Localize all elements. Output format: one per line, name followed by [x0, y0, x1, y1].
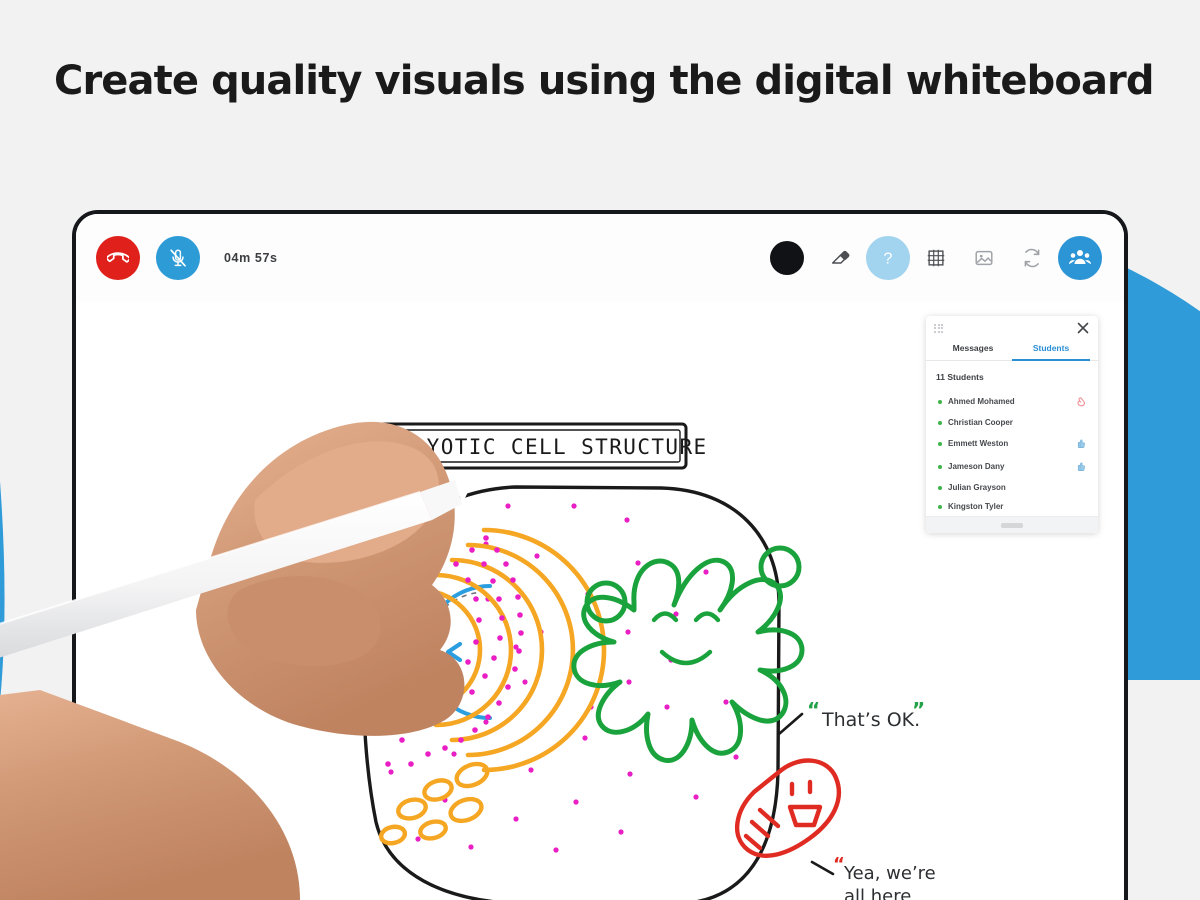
- annotation-here-to-help: “ Yea, we’re all here to help. ”: [812, 854, 936, 900]
- insert-image-button[interactable]: [962, 236, 1006, 280]
- svg-text:all here: all here: [844, 886, 911, 900]
- eraser-icon: [829, 247, 851, 269]
- image-icon: [973, 247, 995, 269]
- diagram-title-box: EUKARYOTIC CELL STRUCTURE: [356, 424, 707, 468]
- app-toolbar: 04m 57s ?: [76, 214, 1124, 302]
- thumbs-up-icon[interactable]: [1075, 460, 1088, 473]
- drawing-tools-group: ?: [770, 236, 1124, 280]
- student-name: Jameson Dany: [948, 462, 1004, 471]
- students-panel: Messages Students 11 Students Ahmed Moha…: [926, 316, 1098, 533]
- list-item[interactable]: Julian Grayson: [926, 478, 1098, 497]
- panel-grip-handle[interactable]: [1001, 523, 1023, 528]
- student-name: Emmett Weston: [948, 439, 1008, 448]
- student-name: Ahmed Mohamed: [948, 397, 1015, 406]
- list-item[interactable]: Ahmed Mohamed: [926, 390, 1098, 413]
- panel-header: [926, 316, 1098, 340]
- panel-drag-handle-icon[interactable]: [934, 324, 943, 333]
- status-dot-online: [938, 505, 942, 509]
- refresh-button[interactable]: [1010, 236, 1054, 280]
- call-timer: 04m 57s: [224, 251, 278, 265]
- annotation-thats-ok: “ That’s OK. ”: [779, 698, 925, 734]
- svg-text:”: ”: [912, 698, 925, 722]
- phone-hangup-icon: [107, 247, 129, 269]
- grid-tool-button[interactable]: [914, 236, 958, 280]
- grid-icon: [925, 247, 947, 269]
- help-tool-button[interactable]: ?: [866, 236, 910, 280]
- list-item[interactable]: Christian Cooper: [926, 413, 1098, 432]
- svg-text:“: “: [807, 698, 820, 722]
- student-name: Christian Cooper: [948, 418, 1013, 427]
- student-count-label: 11 Students: [926, 361, 1098, 390]
- panel-tabs: Messages Students: [926, 340, 1098, 361]
- microphone-mute-button[interactable]: [156, 236, 200, 280]
- tab-students[interactable]: Students: [1012, 340, 1090, 361]
- svg-text:?: ?: [884, 251, 893, 268]
- color-swatch-black[interactable]: [770, 241, 804, 275]
- thumbs-up-icon[interactable]: [1075, 437, 1088, 450]
- page-root: Create quality visuals using the digital…: [0, 0, 1200, 900]
- status-dot-online: [938, 465, 942, 469]
- tablet-screen: 04m 57s ?: [76, 214, 1124, 900]
- question-mark-icon: ?: [876, 246, 900, 270]
- close-icon[interactable]: [1076, 321, 1090, 335]
- status-dot-online: [938, 442, 942, 446]
- participants-button[interactable]: [1058, 236, 1102, 280]
- tab-messages[interactable]: Messages: [934, 340, 1012, 361]
- hand-raised-icon[interactable]: [1075, 395, 1088, 408]
- status-dot-online: [938, 486, 942, 490]
- eraser-tool-button[interactable]: [818, 236, 862, 280]
- whiteboard-canvas[interactable]: EUKARYOTIC CELL STRUCTURE: [76, 302, 1124, 900]
- svg-text:That’s OK.: That’s OK.: [821, 709, 920, 731]
- student-name: Kingston Tyler: [948, 502, 1003, 511]
- tablet-device: 04m 57s ?: [72, 210, 1128, 900]
- student-name: Julian Grayson: [948, 483, 1006, 492]
- list-item[interactable]: Jameson Dany: [926, 455, 1098, 478]
- people-icon: [1068, 246, 1092, 270]
- microphone-muted-icon: [167, 247, 189, 269]
- list-item[interactable]: Kingston Tyler: [926, 497, 1098, 516]
- panel-resize-footer[interactable]: [926, 516, 1098, 533]
- status-dot-online: [938, 421, 942, 425]
- page-headline: Create quality visuals using the digital…: [54, 58, 1164, 104]
- refresh-icon: [1021, 247, 1043, 269]
- end-call-button[interactable]: [96, 236, 140, 280]
- svg-text:Yea, we’re: Yea, we’re: [843, 863, 936, 884]
- diagram-title-text: EUKARYOTIC CELL STRUCTURE: [356, 435, 707, 459]
- list-item[interactable]: Emmett Weston: [926, 432, 1098, 455]
- status-dot-online: [938, 400, 942, 404]
